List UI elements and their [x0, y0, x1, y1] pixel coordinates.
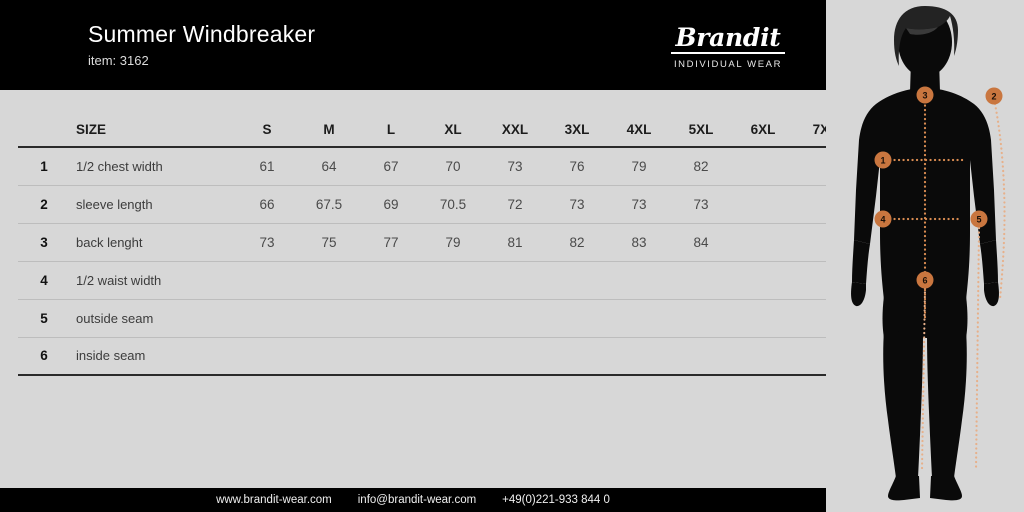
mannequin-panel: 3 2 1 4 5 6 — [826, 0, 1024, 512]
table-row: 1 1/2 chest width 61 64 67 70 73 76 79 8… — [18, 147, 856, 185]
cell-value: 64 — [298, 147, 360, 185]
cell-value: 82 — [546, 223, 608, 261]
cell-value — [484, 299, 546, 337]
header-size-6xl: 6XL — [732, 112, 794, 147]
row-number: 2 — [18, 185, 70, 223]
table-row: 3 back lenght 73 75 77 79 81 82 83 84 — [18, 223, 856, 261]
cell-value: 66 — [236, 185, 298, 223]
table-row: 2 sleeve length 66 67.5 69 70.5 72 73 73… — [18, 185, 856, 223]
table-row: 6 inside seam — [18, 337, 856, 375]
cell-value — [298, 261, 360, 299]
header-size-s: S — [236, 112, 298, 147]
cell-value — [484, 261, 546, 299]
mannequin-figure: 3 2 1 4 5 6 — [826, 0, 1024, 512]
header-size-m: M — [298, 112, 360, 147]
cell-value — [236, 261, 298, 299]
cell-value — [732, 261, 794, 299]
cell-value: 73 — [670, 185, 732, 223]
cell-value: 70.5 — [422, 185, 484, 223]
cell-value — [546, 261, 608, 299]
cell-value: 77 — [360, 223, 422, 261]
cell-value — [670, 261, 732, 299]
cell-value — [732, 337, 794, 375]
cell-value — [236, 299, 298, 337]
row-label: back lenght — [70, 223, 236, 261]
cell-value — [546, 337, 608, 375]
row-number: 4 — [18, 261, 70, 299]
header-number — [18, 112, 70, 147]
cell-value: 79 — [608, 147, 670, 185]
logo-tagline: INDIVIDUAL WEAR — [648, 59, 808, 70]
cell-value — [732, 223, 794, 261]
cell-value: 82 — [670, 147, 732, 185]
cell-value: 67.5 — [298, 185, 360, 223]
marker-2-sleeve-length: 2 — [986, 88, 1003, 105]
row-label: 1/2 chest width — [70, 147, 236, 185]
cell-value: 73 — [608, 185, 670, 223]
cell-value: 70 — [422, 147, 484, 185]
cell-value — [422, 337, 484, 375]
cell-value — [732, 147, 794, 185]
marker-label: 2 — [991, 92, 996, 102]
table-body: 1 1/2 chest width 61 64 67 70 73 76 79 8… — [18, 147, 856, 375]
cell-value — [608, 261, 670, 299]
cell-value: 83 — [608, 223, 670, 261]
page-title: Summer Windbreaker — [88, 20, 315, 48]
row-label: sleeve length — [70, 185, 236, 223]
cell-value: 73 — [484, 147, 546, 185]
cell-value — [670, 337, 732, 375]
cell-value — [670, 299, 732, 337]
footer-bar: www.brandit-wear.com info@brandit-wear.c… — [0, 488, 826, 512]
header-size-l: L — [360, 112, 422, 147]
cell-value — [422, 261, 484, 299]
row-number: 6 — [18, 337, 70, 375]
header-size-5xl: 5XL — [670, 112, 732, 147]
cell-value: 76 — [546, 147, 608, 185]
footer-phone: +49(0)221-933 844 0 — [502, 494, 610, 506]
cell-value — [360, 261, 422, 299]
title-block: Summer Windbreaker item: 3162 — [88, 20, 315, 70]
cell-value — [608, 299, 670, 337]
header-size-4xl: 4XL — [608, 112, 670, 147]
row-number: 1 — [18, 147, 70, 185]
size-table: SIZE S M L XL XXL 3XL 4XL 5XL 6XL 7XL 1 … — [18, 112, 856, 376]
cell-value — [298, 299, 360, 337]
cell-value — [422, 299, 484, 337]
cell-value: 61 — [236, 147, 298, 185]
cell-value: 81 — [484, 223, 546, 261]
cell-value: 79 — [422, 223, 484, 261]
table-row: 5 outside seam — [18, 299, 856, 337]
table-header: SIZE S M L XL XXL 3XL 4XL 5XL 6XL 7XL — [18, 112, 856, 147]
header-size-xl: XL — [422, 112, 484, 147]
footer-email[interactable]: info@brandit-wear.com — [358, 494, 476, 506]
measurement-table-area: SIZE S M L XL XXL 3XL 4XL 5XL 6XL 7XL 1 … — [0, 90, 826, 488]
header-size-label: SIZE — [70, 112, 236, 147]
row-label: outside seam — [70, 299, 236, 337]
table-header-row: SIZE S M L XL XXL 3XL 4XL 5XL 6XL 7XL — [18, 112, 856, 147]
row-label: inside seam — [70, 337, 236, 375]
header-size-xxl: XXL — [484, 112, 546, 147]
footer-website[interactable]: www.brandit-wear.com — [216, 494, 332, 506]
cell-value — [732, 185, 794, 223]
cell-value: 73 — [236, 223, 298, 261]
logo-wordmark: Brandit — [671, 24, 784, 54]
cell-value: 69 — [360, 185, 422, 223]
header-size-3xl: 3XL — [546, 112, 608, 147]
cell-value: 75 — [298, 223, 360, 261]
cell-value — [360, 337, 422, 375]
cell-value: 84 — [670, 223, 732, 261]
table-row: 4 1/2 waist width — [18, 261, 856, 299]
cell-value — [484, 337, 546, 375]
cell-value: 72 — [484, 185, 546, 223]
size-chart-page: Summer Windbreaker item: 3162 Brandit IN… — [0, 0, 1024, 512]
header-bar: Summer Windbreaker item: 3162 Brandit IN… — [0, 0, 826, 90]
item-number: item: 3162 — [88, 52, 315, 70]
cell-value — [608, 337, 670, 375]
cell-value — [298, 337, 360, 375]
row-number: 3 — [18, 223, 70, 261]
cell-value: 67 — [360, 147, 422, 185]
cell-value — [732, 299, 794, 337]
row-label: 1/2 waist width — [70, 261, 236, 299]
cell-value — [236, 337, 298, 375]
cell-value — [546, 299, 608, 337]
cell-value — [360, 299, 422, 337]
cell-value: 73 — [546, 185, 608, 223]
brand-logo: Brandit INDIVIDUAL WEAR — [648, 24, 808, 70]
measure-line-outside-seam — [976, 228, 979, 470]
row-number: 5 — [18, 299, 70, 337]
